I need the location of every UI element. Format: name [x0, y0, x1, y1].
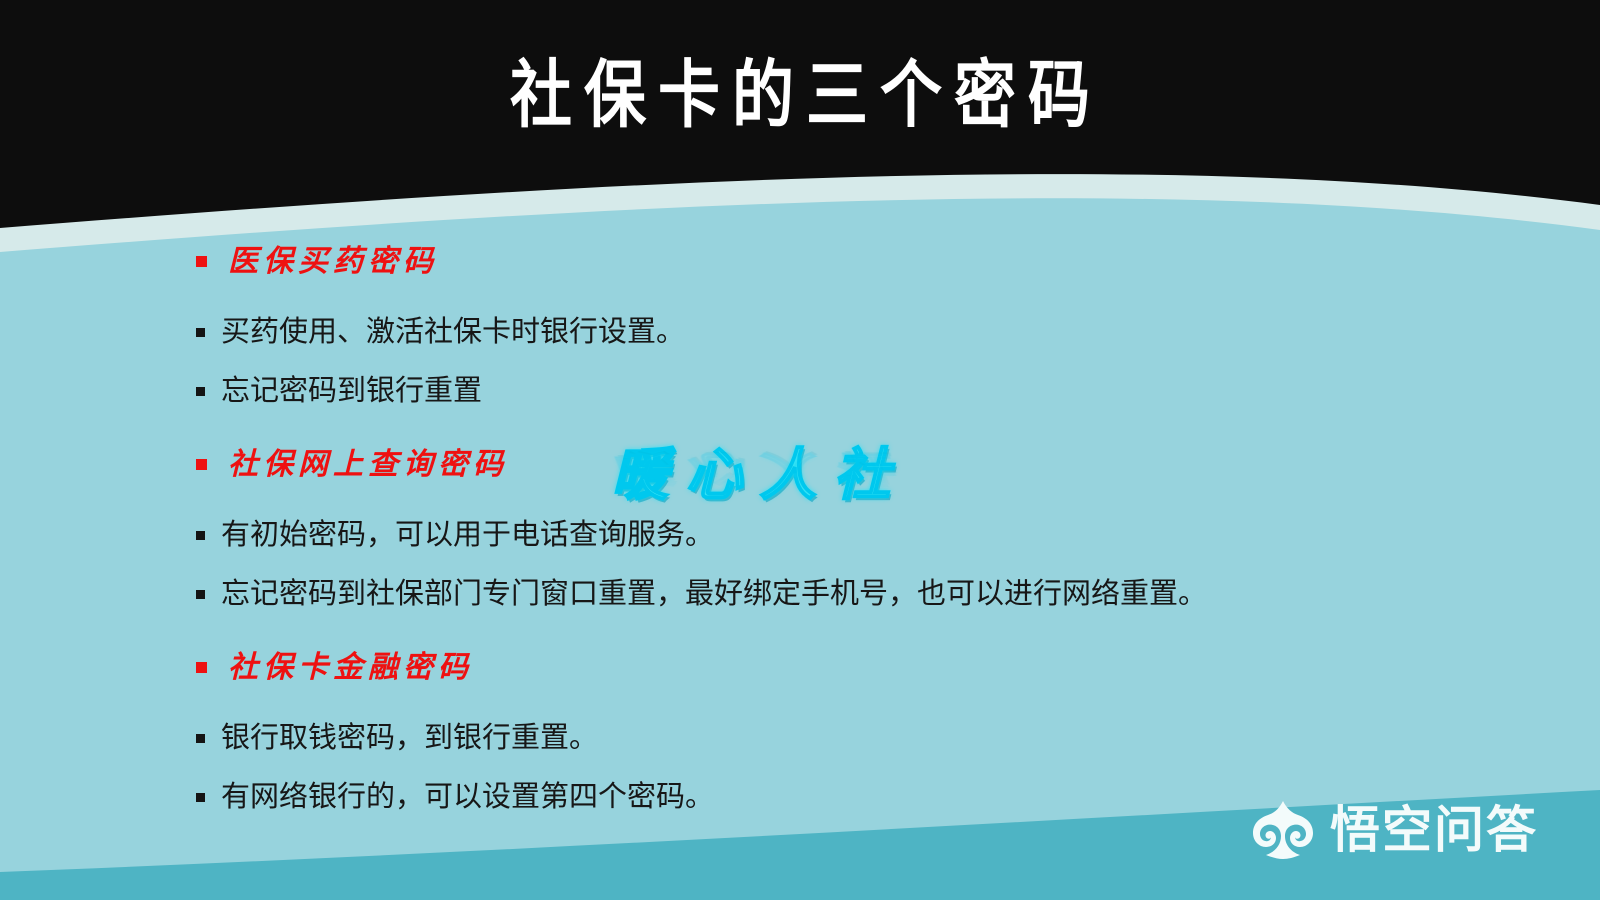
- bullet-item-label: 有网络银行的，可以设置第四个密码。: [221, 775, 714, 819]
- section-heading-label: 社保卡金融密码: [228, 646, 473, 690]
- section-heading: 社保网上查询密码: [196, 443, 1496, 487]
- section-heading: 医保买药密码: [196, 240, 1496, 284]
- spacer: [196, 616, 1496, 646]
- bullet-item: 忘记密码到银行重置: [196, 369, 1496, 413]
- bullet-item-label: 忘记密码到银行重置: [221, 369, 482, 413]
- black-square-bullet-icon: [196, 793, 205, 802]
- slide-content: 医保买药密码 买药使用、激活社保卡时银行设置。 忘记密码到银行重置 社保网上查询…: [196, 240, 1496, 819]
- bullet-item-label: 买药使用、激活社保卡时银行设置。: [221, 310, 685, 354]
- content-section: 医保买药密码 买药使用、激活社保卡时银行设置。 忘记密码到银行重置: [196, 240, 1496, 413]
- page-title: 社保卡的三个密码: [498, 58, 1102, 131]
- bullet-item: 买药使用、激活社保卡时银行设置。: [196, 310, 1496, 354]
- content-section: 社保卡金融密码 银行取钱密码，到银行重置。 有网络银行的，可以设置第四个密码。: [196, 646, 1496, 819]
- brand-logo: 悟空问答: [1250, 800, 1538, 860]
- brand-name: 悟空问答: [1330, 805, 1538, 855]
- bullet-item-label: 有初始密码，可以用于电话查询服务。: [221, 513, 714, 557]
- bullet-item-label: 忘记密码到社保部门专门窗口重置，最好绑定手机号，也可以进行网络重置。: [221, 572, 1207, 616]
- black-square-bullet-icon: [196, 531, 205, 540]
- red-square-bullet-icon: [196, 662, 207, 673]
- spacer: [196, 760, 1496, 775]
- spacer: [196, 284, 1496, 310]
- black-square-bullet-icon: [196, 328, 205, 337]
- spacer: [196, 690, 1496, 716]
- spacer: [196, 354, 1496, 369]
- bullet-item-label: 银行取钱密码，到银行重置。: [221, 716, 598, 760]
- section-heading-label: 社保网上查询密码: [228, 443, 508, 487]
- wukong-cloud-icon: [1250, 800, 1316, 860]
- spacer: [196, 487, 1496, 513]
- black-square-bullet-icon: [196, 387, 205, 396]
- title-block: 社保卡的三个密码: [0, 0, 1600, 190]
- bullet-item: 有初始密码，可以用于电话查询服务。: [196, 513, 1496, 557]
- content-section: 社保网上查询密码 有初始密码，可以用于电话查询服务。 忘记密码到社保部门专门窗口…: [196, 443, 1496, 616]
- presentation-slide: 社保卡的三个密码 医保买药密码 买药使用、激活社保卡时银行设置。 忘记密码到银行…: [0, 0, 1600, 900]
- section-heading-label: 医保买药密码: [228, 240, 438, 284]
- section-heading: 社保卡金融密码: [196, 646, 1496, 690]
- black-square-bullet-icon: [196, 590, 205, 599]
- spacer: [196, 557, 1496, 572]
- bullet-item: 忘记密码到社保部门专门窗口重置，最好绑定手机号，也可以进行网络重置。: [196, 572, 1496, 616]
- red-square-bullet-icon: [196, 459, 207, 470]
- spacer: [196, 413, 1496, 443]
- red-square-bullet-icon: [196, 256, 207, 267]
- black-square-bullet-icon: [196, 734, 205, 743]
- bullet-item: 银行取钱密码，到银行重置。: [196, 716, 1496, 760]
